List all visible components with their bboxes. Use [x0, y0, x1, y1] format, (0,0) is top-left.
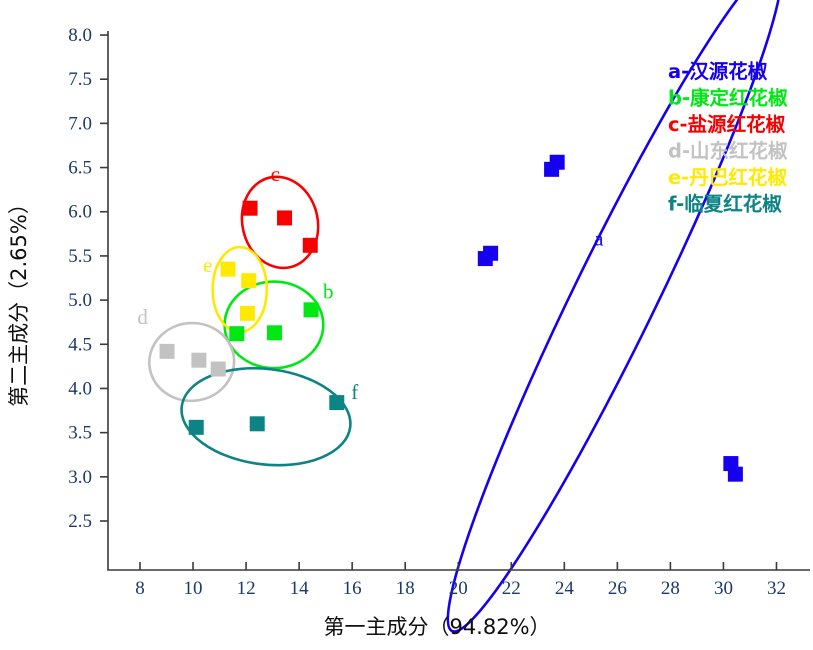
data-point-e	[240, 306, 255, 321]
cluster-letter-labels-layer: abcdef	[137, 162, 604, 404]
x-tick-label: 32	[767, 578, 786, 599]
data-point-b	[304, 302, 319, 317]
x-axis-title: 第一主成分（94.82%）	[323, 615, 550, 639]
legend-item-4: e-丹巴红花椒	[668, 166, 787, 189]
legend-item-2: c-盐源红花椒	[668, 113, 786, 136]
data-point-b	[267, 325, 282, 340]
y-tick-label: 3.0	[68, 467, 92, 488]
data-point-d	[211, 362, 226, 377]
cluster-label-f: f	[351, 380, 358, 404]
legend-item-0: a-汉源花椒	[668, 60, 768, 83]
data-point-c	[243, 201, 258, 216]
cluster-label-d: d	[137, 305, 148, 329]
y-tick-label: 2.5	[68, 511, 92, 532]
cluster-ellipse-e	[213, 247, 267, 332]
x-tick-label: 30	[714, 578, 733, 599]
x-tick-label: 28	[661, 578, 680, 599]
x-tick-label: 16	[343, 578, 362, 599]
data-point-f	[329, 395, 344, 410]
y-tick-label: 6.0	[68, 202, 92, 223]
data-point-f	[250, 416, 265, 431]
cluster-ellipse-f	[176, 359, 356, 474]
data-point-a	[550, 155, 565, 170]
y-tick-label: 4.0	[68, 378, 92, 399]
data-point-e	[221, 262, 236, 277]
x-axis-ticks-layer: 8101214161820222426283032	[135, 562, 786, 599]
y-axis-title: 第二主成分（2.65%）	[7, 193, 31, 407]
x-tick-label: 26	[608, 578, 627, 599]
y-tick-label: 6.5	[68, 158, 92, 179]
cluster-label-b: b	[323, 279, 334, 303]
cluster-label-a: a	[594, 226, 604, 250]
pca-score-plot: abcdef 8101214161820222426283032 2.53.03…	[0, 0, 813, 650]
data-point-e	[241, 273, 256, 288]
y-tick-label: 7.5	[68, 69, 92, 90]
data-point-d	[191, 353, 206, 368]
x-tick-label: 24	[555, 578, 575, 599]
x-tick-label: 18	[396, 578, 415, 599]
cluster-label-c: c	[271, 162, 280, 186]
y-tick-label: 7.0	[68, 113, 92, 134]
legend-item-3: d-山东红花椒	[668, 140, 788, 163]
data-point-d	[160, 344, 175, 359]
plot-canvas: abcdef 8101214161820222426283032 2.53.03…	[0, 0, 813, 650]
y-tick-label: 4.5	[68, 334, 92, 355]
x-tick-label: 20	[449, 578, 468, 599]
x-tick-label: 14	[290, 578, 310, 599]
y-tick-label: 5.5	[68, 246, 92, 267]
data-point-c	[303, 238, 318, 253]
legend-item-5: f-临夏红花椒	[668, 193, 782, 216]
y-tick-label: 8.0	[68, 25, 92, 46]
x-tick-label: 22	[502, 578, 521, 599]
x-tick-label: 8	[135, 578, 145, 599]
data-point-b	[229, 326, 244, 341]
x-tick-label: 12	[237, 578, 256, 599]
legend: a-汉源花椒b-康定红花椒c-盐源红花椒d-山东红花椒e-丹巴红花椒f-临夏红花…	[668, 60, 788, 216]
cluster-ellipse-b	[225, 282, 324, 369]
data-point-c	[277, 210, 292, 225]
data-point-f	[189, 420, 204, 435]
data-point-a	[483, 246, 498, 261]
y-axis-ticks-layer: 2.53.03.54.04.55.05.56.06.57.07.58.0	[68, 25, 108, 532]
data-points-layer	[160, 155, 743, 482]
y-tick-label: 3.5	[68, 423, 92, 444]
data-point-a	[728, 467, 743, 482]
x-tick-label: 10	[184, 578, 203, 599]
legend-item-1: b-康定红花椒	[668, 87, 788, 110]
cluster-label-e: e	[203, 253, 212, 277]
y-tick-label: 5.0	[68, 290, 92, 311]
